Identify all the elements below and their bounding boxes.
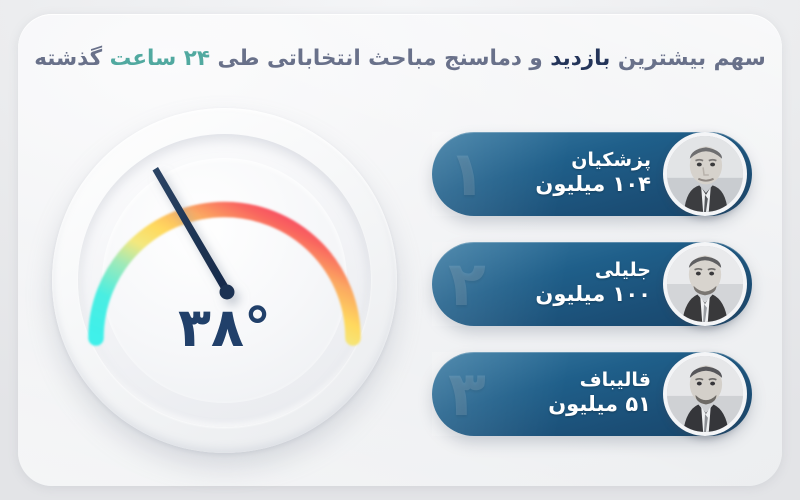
gauge-value: ۳۸°: [52, 296, 397, 359]
title-part-bold: بازدید: [550, 46, 610, 71]
page-title: سهم بیشترین بازدید و دماسنج مباحث انتخاب…: [0, 44, 800, 73]
candidate-name: پزشکیان: [571, 150, 651, 172]
candidate-info: پزشکیان ۱۰۴ میلیون: [535, 150, 651, 197]
candidate-name: جلیلی: [595, 260, 651, 282]
candidate-value: ۱۰۴ میلیون: [535, 172, 651, 197]
portrait-pezeshkian-icon: [667, 136, 743, 212]
portrait-ghalibaf-icon: [667, 356, 743, 432]
rank-badge: ۱: [448, 143, 486, 205]
title-part-lead: سهم بیشترین: [610, 46, 765, 71]
candidate-info: قالیباف ۵۱ میلیون: [548, 370, 651, 417]
rank-badge: ۲: [448, 253, 486, 315]
candidate-value: ۱۰۰ میلیون: [535, 282, 651, 307]
title-part-highlight: ۲۴ ساعت: [110, 46, 210, 71]
candidate-name: قالیباف: [580, 370, 651, 392]
thermometer-gauge: ۳۸°: [52, 108, 397, 453]
portrait-jalili-icon: [667, 246, 743, 322]
ranking-list: ۱ پزشکیان: [432, 132, 752, 462]
title-part-mid: و دماسنج مباحث انتخاباتی طی: [210, 46, 550, 71]
avatar: [663, 242, 747, 326]
avatar: [663, 132, 747, 216]
avatar: [663, 352, 747, 436]
candidate-info: جلیلی ۱۰۰ میلیون: [535, 260, 651, 307]
list-item[interactable]: ۱ پزشکیان: [432, 132, 752, 216]
list-item[interactable]: ۳ قالیباف ۵۱: [432, 352, 752, 436]
gauge-arc: [52, 108, 397, 453]
infographic-stage: سهم بیشترین بازدید و دماسنج مباحث انتخاب…: [0, 0, 800, 500]
list-item[interactable]: ۲ جلیلی ۱۰۰ م: [432, 242, 752, 326]
title-part-tail: گذشته: [34, 46, 109, 71]
candidate-value: ۵۱ میلیون: [548, 392, 651, 417]
rank-badge: ۳: [448, 363, 486, 425]
